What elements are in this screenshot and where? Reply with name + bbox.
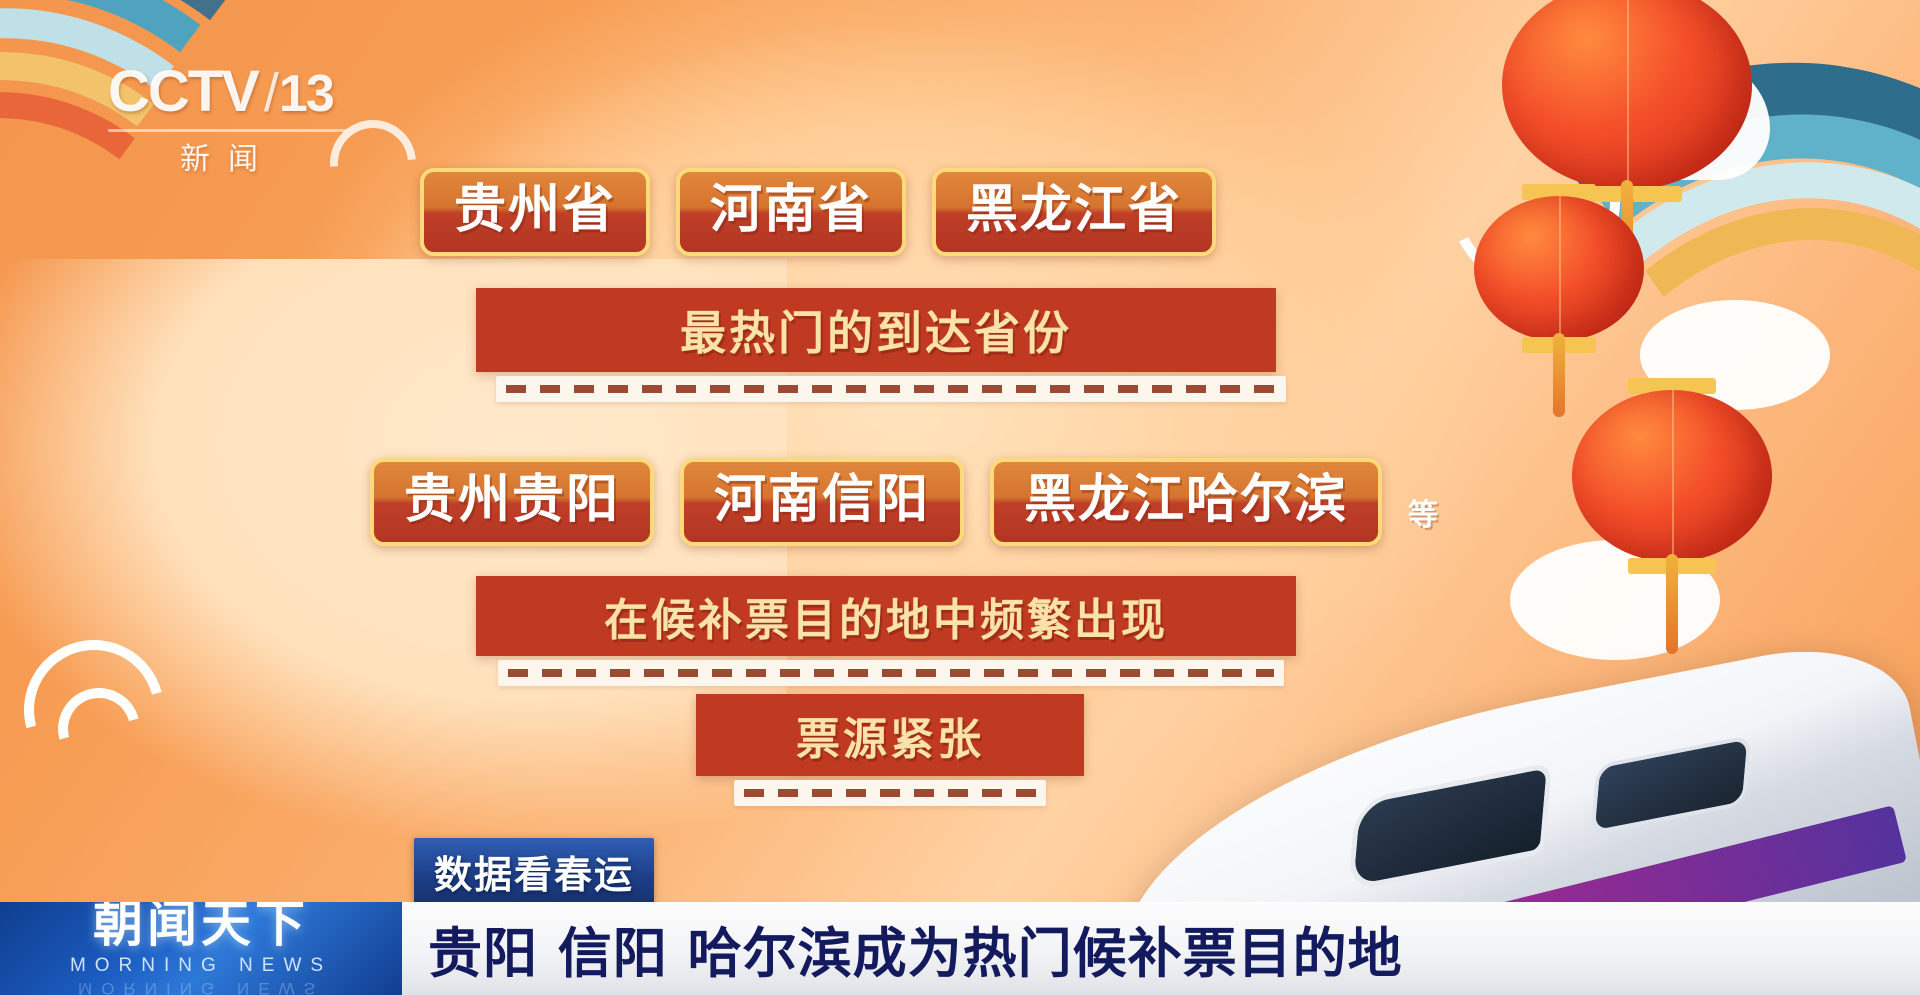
province-chip-label: 河南省: [710, 182, 872, 238]
topic-tag: 数据看春运: [414, 838, 654, 909]
province-chip-label: 黑龙江省: [966, 182, 1182, 238]
city-chip: 贵州贵阳: [370, 458, 654, 546]
city-banner: 在候补票目的地中频繁出现: [476, 576, 1296, 656]
broadcast-screenshot: CCTV / 13 新闻 贵州省 河南省 黑龙江省 最热门的到达省份 贵州贵阳: [0, 0, 1920, 995]
headline-block: 贵阳 信阳 哈尔滨成为热门候补票目的地: [402, 902, 1920, 995]
dashed-divider: [498, 660, 1284, 686]
city-chip: 河南信阳: [680, 458, 964, 546]
province-banner: 最热门的到达省份: [476, 288, 1276, 372]
dashed-divider: [734, 780, 1046, 806]
conclusion-banner: 票源紧张: [696, 694, 1084, 776]
headline-text: 贵阳 信阳 哈尔滨成为热门候补票目的地: [428, 909, 1403, 988]
province-banner-label: 最热门的到达省份: [680, 297, 1072, 363]
province-chip: 黑龙江省: [932, 168, 1216, 256]
dashed-divider: [496, 376, 1286, 402]
city-chip-row: 贵州贵阳 河南信阳 黑龙江哈尔滨 等: [370, 458, 1438, 546]
lower-third-bar: 朝闻天下 MORNING NEWS MORNING NEWS 贵阳 信阳 哈尔滨…: [0, 902, 1920, 995]
city-chip-label: 河南信阳: [714, 472, 930, 528]
province-chip: 贵州省: [420, 168, 650, 256]
program-title-cn: 朝闻天下: [93, 902, 309, 949]
province-chip-label: 贵州省: [454, 182, 616, 238]
topic-tag-label: 数据看春运: [434, 853, 634, 897]
city-banner-label: 在候补票目的地中频繁出现: [604, 584, 1168, 648]
city-chip-suffix: 等: [1408, 490, 1438, 546]
program-brand-block: 朝闻天下 MORNING NEWS MORNING NEWS: [0, 902, 402, 995]
city-chip-label: 贵州贵阳: [404, 472, 620, 528]
conclusion-banner-label: 票源紧张: [796, 703, 984, 767]
province-chip: 河南省: [676, 168, 906, 256]
infographic: 贵州省 河南省 黑龙江省 最热门的到达省份 贵州贵阳 河南信阳 黑龙江哈尔滨 等: [0, 0, 1920, 840]
city-chip-label: 黑龙江哈尔滨: [1024, 472, 1348, 528]
city-chip: 黑龙江哈尔滨: [990, 458, 1382, 546]
program-title-en: MORNING NEWS: [70, 955, 332, 977]
program-title-en-reflection: MORNING NEWS: [78, 978, 324, 995]
province-chip-row: 贵州省 河南省 黑龙江省: [420, 168, 1216, 256]
